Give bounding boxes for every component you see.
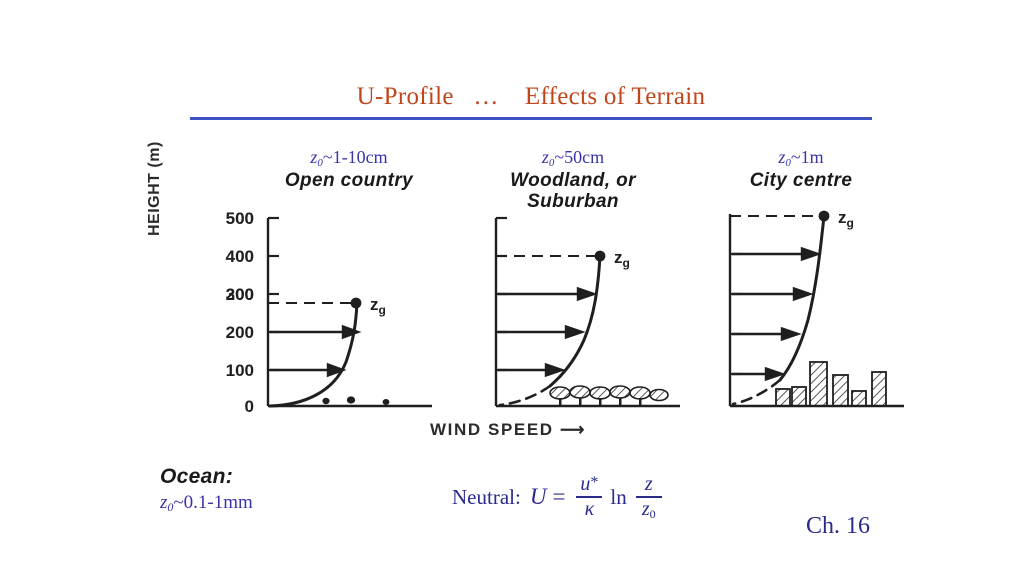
equation-ln: ln (610, 485, 626, 510)
wind-arrows (498, 289, 594, 376)
terrain-label-city-centre: City centre (706, 171, 896, 192)
column-heading-open-country: z0~1-10cm Open country (244, 148, 454, 192)
equation-arg-denominator: z0 (638, 498, 660, 521)
zg-marker-dot (595, 251, 606, 262)
column-heading-woodland: z0~50cm Woodland, or Suburban (468, 148, 678, 212)
ocean-note: Ocean: z0~0.1-1mm (160, 465, 253, 515)
zg-label: zg (614, 248, 630, 270)
footer-chapter-note: Ch. 16 (806, 513, 870, 540)
equation-fraction-z-z0: z z0 (636, 474, 662, 521)
wind-profile-curve-dashed (733, 380, 780, 404)
x-axis-arrow-icon: ⟶ (560, 420, 584, 439)
roughness-elements-open-country (322, 396, 389, 405)
chart-city-centre: zg (718, 196, 918, 418)
svg-text:0: 0 (245, 397, 254, 416)
equation-lhs: U (530, 484, 547, 510)
y-axis-title: HEIGHT (m) (146, 66, 164, 236)
title-divider (190, 117, 872, 120)
z0-label-city-centre: z0~1m (706, 148, 896, 169)
neutral-profile-equation: Neutral: U = u* κ ln z z0 (452, 474, 667, 521)
chart-woodland-suburban: zg (484, 206, 704, 418)
roughness-elements-city (776, 362, 886, 406)
slide-canvas: U-Profile … Effects of Terrain z0~1-10cm… (0, 0, 1024, 576)
zg-marker-dot (819, 211, 830, 222)
svg-text:300: 300 (226, 285, 254, 304)
zg-marker-dot (351, 298, 362, 309)
z0-label-ocean: z0~0.1-1mm (160, 492, 253, 515)
wind-profile-curve-dashed (500, 386, 550, 405)
svg-text:200: 200 (226, 323, 254, 342)
x-axis-title-text: WIND SPEED (430, 420, 554, 439)
page-title: U-Profile … Effects of Terrain (190, 84, 872, 110)
equation-body: U = u* κ ln z z0 (530, 474, 667, 521)
title-block: U-Profile … Effects of Terrain (190, 84, 872, 120)
y-axis-tick-marks (730, 254, 741, 374)
y-axis-tick-marks (268, 218, 279, 370)
wind-profile-curve (270, 303, 357, 406)
svg-text:100: 100 (226, 361, 254, 380)
equation-prefix: Neutral: (452, 485, 521, 510)
svg-text:400: 400 (226, 247, 254, 266)
z0-label-woodland: z0~50cm (468, 148, 678, 169)
terrain-label-open-country: Open country (244, 171, 454, 192)
x-axis-title: WIND SPEED ⟶ (430, 420, 584, 440)
zg-label: zg (838, 208, 854, 230)
equation-fraction-ustar-kappa: u* κ (576, 474, 602, 520)
zg-label: zg (370, 295, 386, 317)
wind-arrows (732, 249, 818, 380)
equation-equals: = (552, 484, 565, 510)
z0-label-open-country: z0~1-10cm (244, 148, 454, 169)
wind-profile-curve (550, 256, 600, 386)
chart-open-country: 500 400 200 x x 500 400 500 400 300 200 … (196, 206, 446, 418)
column-heading-city-centre: z0~1m City centre (706, 148, 896, 192)
svg-text:500: 500 (226, 209, 254, 228)
roughness-elements-woodland (550, 386, 668, 406)
equation-denominator: κ (581, 498, 599, 520)
y-axis-ticks: 500 400 300 200 100 0 (226, 209, 254, 416)
equation-numerator: u* (576, 474, 602, 496)
equation-arg-numerator: z (641, 474, 657, 496)
ocean-label: Ocean: (160, 465, 253, 489)
